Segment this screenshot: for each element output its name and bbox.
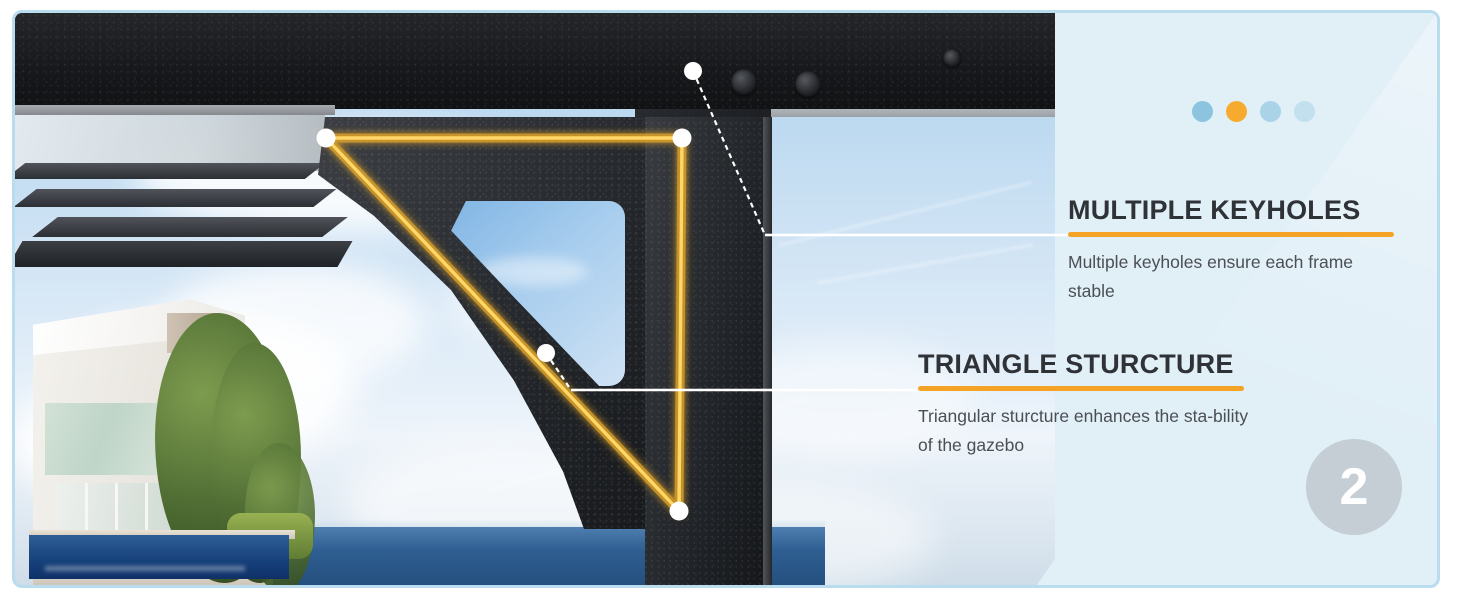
pagination-dot-3[interactable] [1260, 101, 1281, 122]
callout-line-keyholes [693, 71, 1068, 235]
feature-body: Multiple keyholes ensure each frame stab… [1068, 248, 1400, 305]
pagination-dot-1[interactable] [1192, 101, 1213, 122]
carousel-pagination[interactable] [1192, 101, 1315, 122]
promo-banner: MULTIPLE KEYHOLES Multiple keyholes ensu… [0, 0, 1464, 600]
feature-title: MULTIPLE KEYHOLES [1068, 195, 1418, 225]
feature-title: TRIANGLE STURCTURE [918, 349, 1268, 379]
keyhole-marker-dot [684, 62, 702, 80]
feature-multiple-keyholes: MULTIPLE KEYHOLES Multiple keyholes ensu… [1068, 195, 1418, 305]
pagination-dot-4[interactable] [1294, 101, 1315, 122]
feature-triangle-sturcture: TRIANGLE STURCTURE Triangular sturcture … [918, 349, 1268, 459]
feature-underline [918, 386, 1244, 391]
bracket-marker-dot [537, 344, 555, 362]
feature-underline [1068, 232, 1394, 237]
step-number: 2 [1340, 457, 1369, 517]
callout-line-triangle [546, 353, 918, 390]
feature-body: Triangular sturcture enhances the sta-bi… [918, 402, 1250, 459]
pagination-dot-2-active[interactable] [1226, 101, 1247, 122]
banner-frame: MULTIPLE KEYHOLES Multiple keyholes ensu… [12, 10, 1440, 588]
step-number-badge: 2 [1306, 439, 1402, 535]
